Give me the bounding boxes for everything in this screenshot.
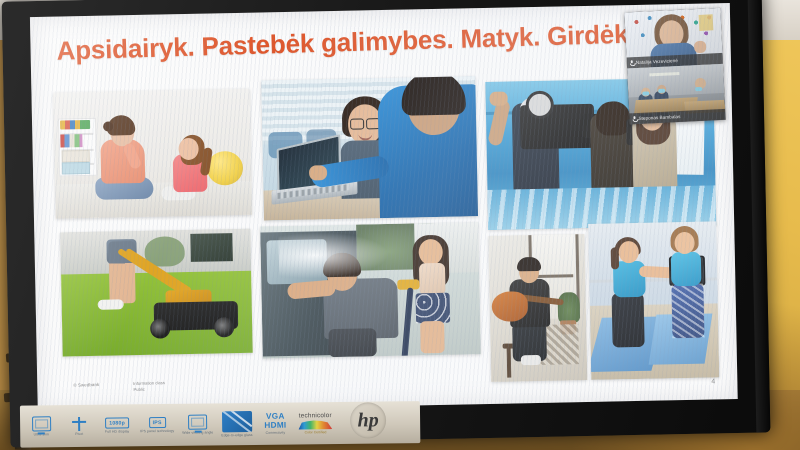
hp-monitor: Apsidairyk. Pastebėk galimybes. Matyk. G… [2, 0, 771, 448]
face-mask-2 [658, 89, 665, 93]
information-class-block: Information class Public [133, 380, 165, 393]
anti-glare-tile-icon [222, 411, 252, 432]
technicolor-rainbow-icon [298, 420, 332, 429]
wall-card [699, 14, 714, 31]
hp-logo-text: hp [357, 410, 378, 430]
sticker-caption: Color Certified [305, 430, 327, 434]
sticker-full-hd: 1080p Full HD display [102, 417, 132, 433]
photo-gym-tablet-coaching [588, 221, 719, 380]
participant-name: Natalija Vezevicienė [636, 58, 678, 65]
technicolor-brand: technicolor [299, 412, 332, 419]
photo-mother-and-daughter-talking [53, 89, 251, 219]
information-class-label: Information class [133, 380, 165, 387]
connectivity-badge: VGA HDMI [264, 413, 286, 430]
sticker-ultra-slim: Ultra-slim [26, 416, 56, 436]
resolution-badge: 1080p [105, 417, 129, 428]
slide-title: Apsidairyk. Pastebėk galimybes. Matyk. G… [56, 16, 707, 66]
sticker-caption: Connectivity [266, 430, 286, 434]
participant-name: Steponas Bambalas [638, 114, 680, 121]
sticker-ips: IPS IPS panel technology [140, 417, 174, 433]
slide-page-number: 4 [711, 378, 715, 385]
photo-students-with-laptop [261, 76, 478, 220]
sticker-caption: Full HD display [105, 429, 129, 433]
sticker-edge-to-edge: Edge-to-edge glass [221, 411, 253, 437]
copyright-text: © Swedbank [73, 382, 99, 388]
hp-logo: hp [350, 402, 386, 438]
pivot-icon [72, 416, 86, 430]
photo-of-monitor-scene: Apsidairyk. Pastebėk galimybes. Matyk. G… [0, 0, 800, 450]
slide-photo-grid [53, 71, 719, 384]
sticker-technicolor: technicolor Color Certified [298, 412, 332, 434]
microphone-icon [632, 116, 636, 122]
video-tile-participant-2[interactable]: Steponas Bambalas [627, 64, 726, 125]
hdmi-label: HDMI [264, 421, 286, 430]
photo-guitar-player [488, 234, 587, 382]
participant-hand [694, 41, 707, 54]
photo-lawn-mowing [60, 229, 252, 357]
face-mask-3 [695, 87, 702, 91]
sticker-pivot: Pivot [64, 416, 94, 435]
sticker-caption: Pivot [75, 431, 83, 435]
microphone-icon [630, 60, 634, 66]
sticker-caption: Edge-to-edge glass [221, 433, 252, 437]
ips-badge: IPS [149, 417, 166, 428]
video-call-panel[interactable]: Natalija Vezevicienė [624, 8, 725, 124]
tilt-monitor-icon [188, 415, 207, 430]
monitor-screen: Apsidairyk. Pastebėk galimybes. Matyk. G… [30, 3, 738, 413]
video-tile-participant-1[interactable]: Natalija Vezevicienė [624, 8, 723, 69]
slide-footer: © Swedbank Information class Public [73, 380, 165, 395]
sticker-viewing-angle: Wide viewing angle [182, 414, 213, 434]
information-class-value: Public [133, 386, 165, 393]
sticker-connectivity: VGA HDMI Connectivity [260, 413, 290, 435]
monitor-icon [32, 416, 51, 431]
face-mask-1 [642, 91, 649, 95]
photo-car-washing [260, 222, 481, 358]
sticker-caption: IPS panel technology [140, 429, 174, 433]
